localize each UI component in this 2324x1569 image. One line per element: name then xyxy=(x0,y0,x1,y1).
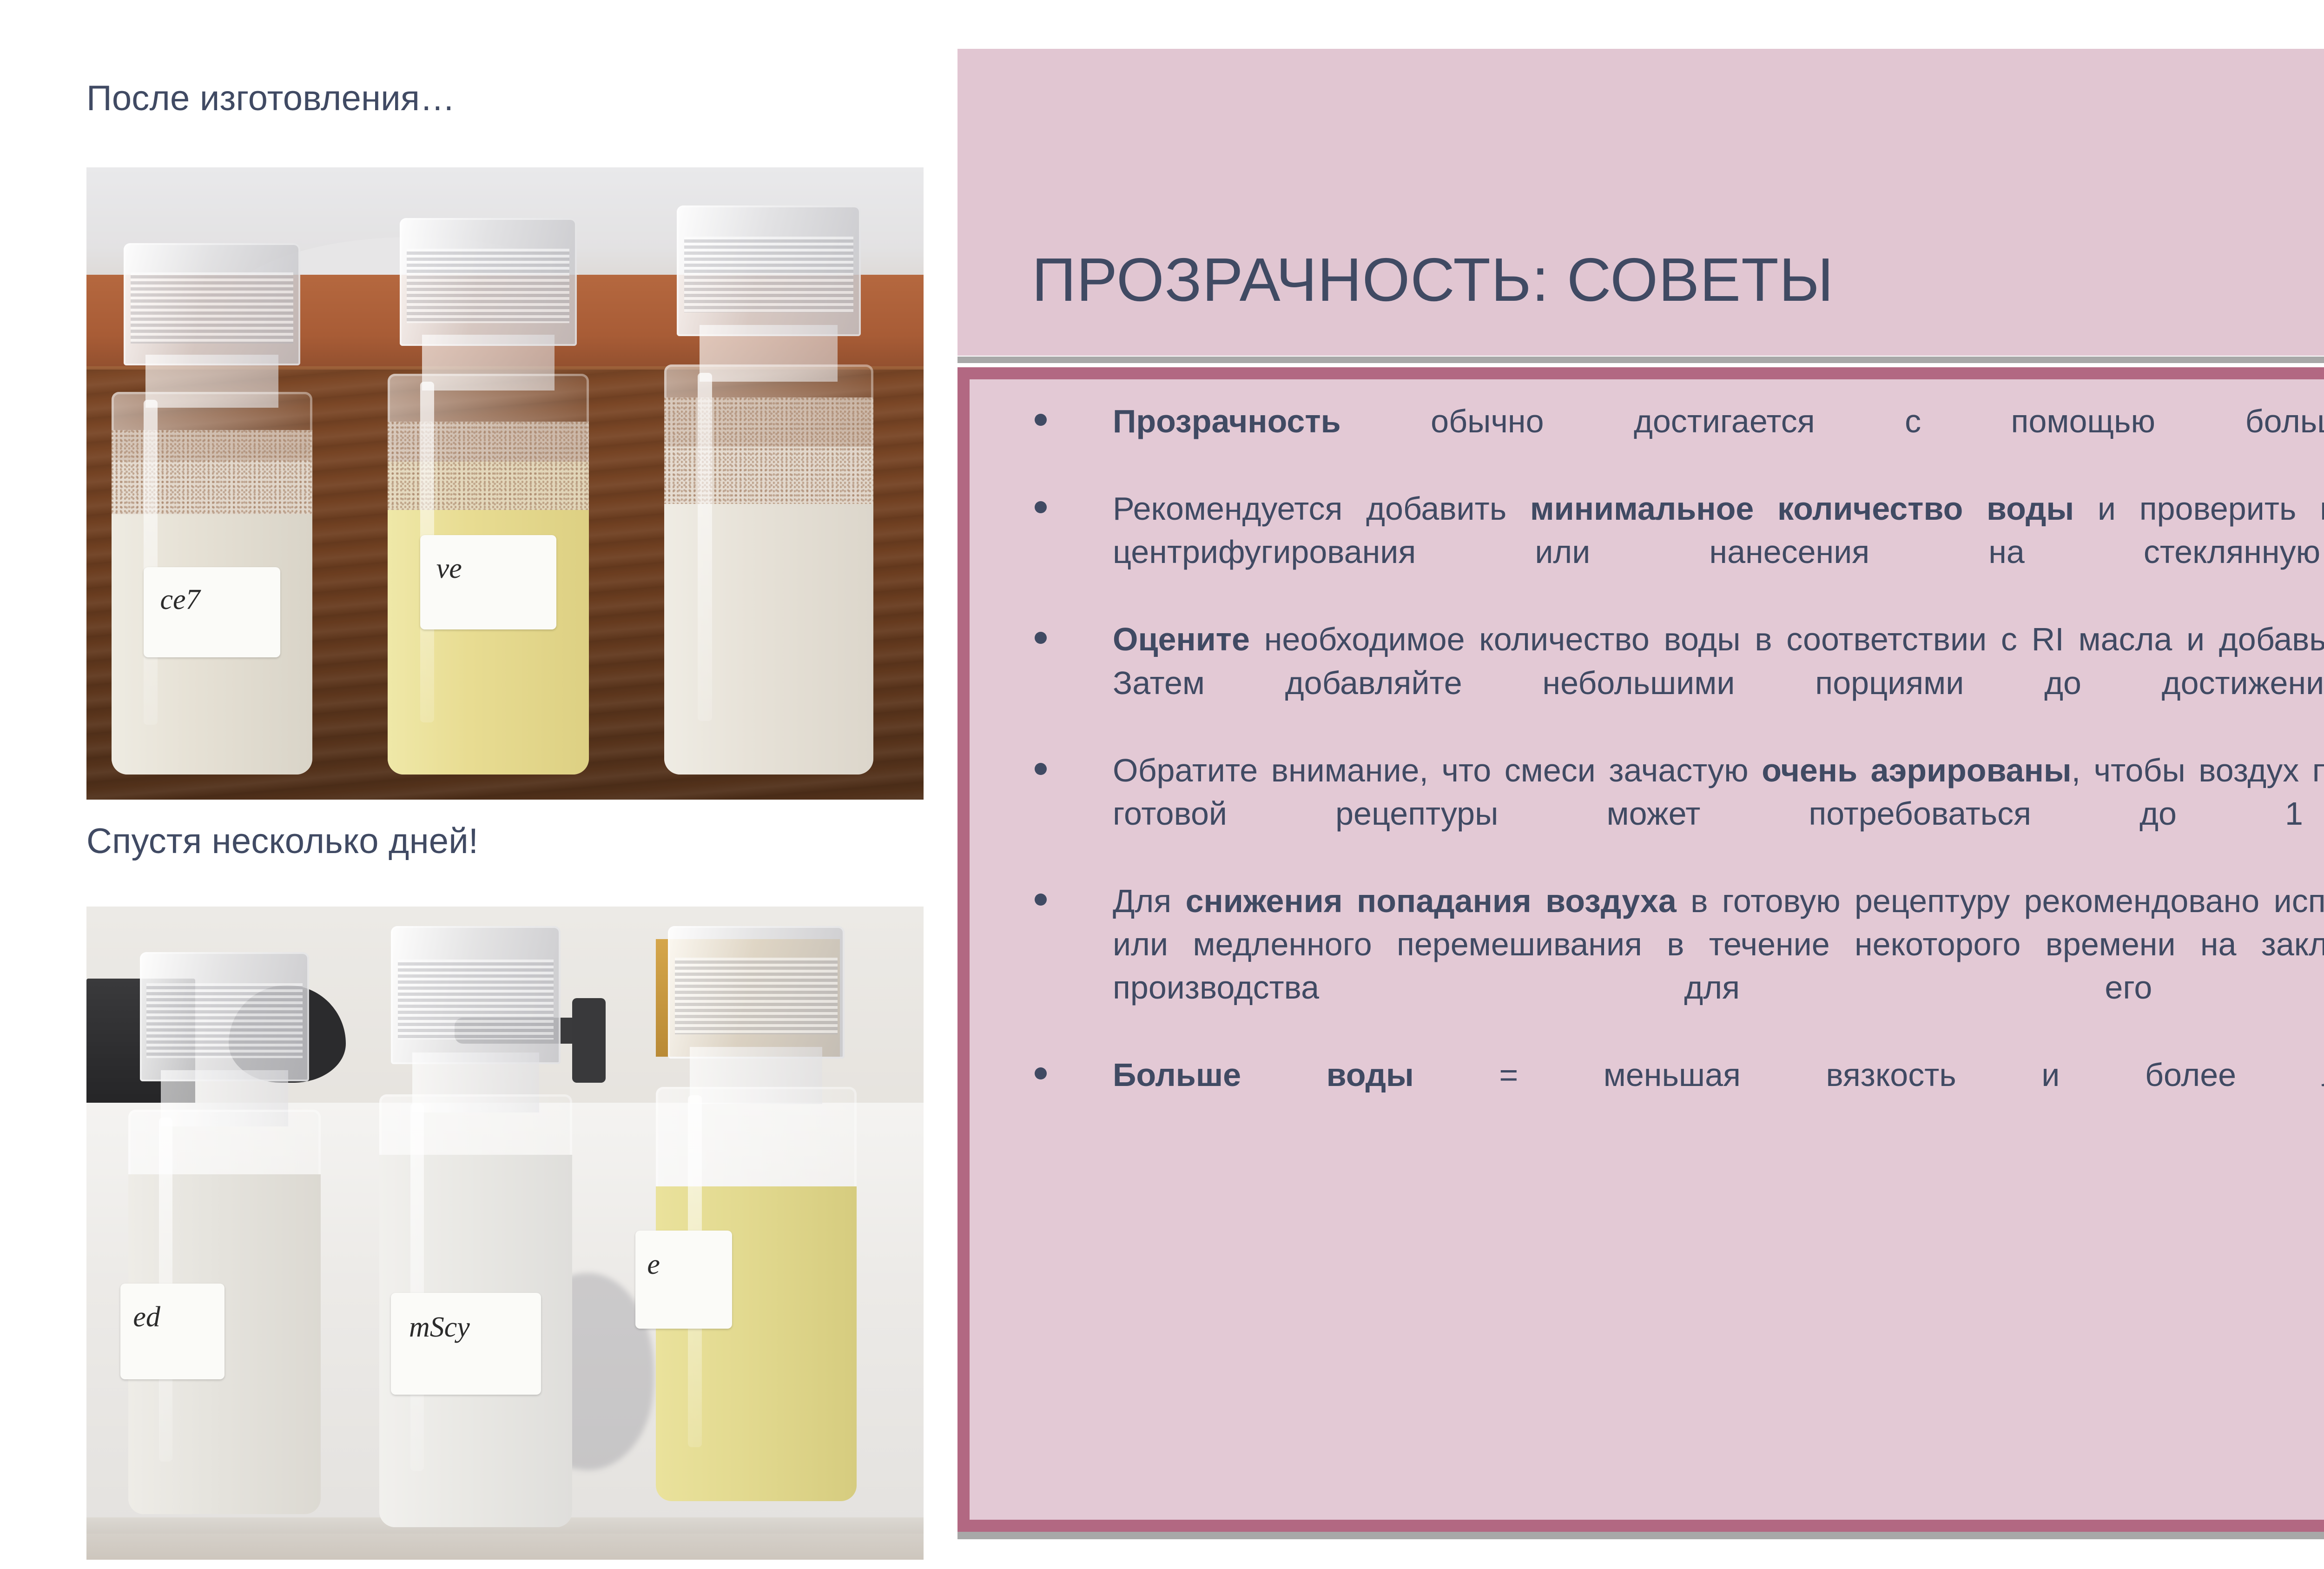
photo-bottles-after-several-days: ed тScy xyxy=(86,907,924,1560)
bullet-minimal-water: Рекомендуется добавить минимальное колич… xyxy=(1024,487,2324,617)
bottle-foam xyxy=(664,397,873,504)
bullet-emphasis: Больше воды xyxy=(1113,1057,1414,1093)
bullet-text: обычно достигается с помощью большинства… xyxy=(1341,403,2324,439)
bottle-cap-icon xyxy=(140,952,310,1081)
slide: После изготовления… ce7 xyxy=(0,0,2324,1569)
bottle-2: тScy xyxy=(379,926,572,1527)
bottle-label-text: e xyxy=(647,1248,660,1281)
bottle-highlight xyxy=(698,373,713,721)
bullet-emphasis: минимальное количество воды xyxy=(1530,490,2074,527)
bottle-3: e xyxy=(656,926,857,1501)
bottle-label-text: ed xyxy=(133,1301,160,1334)
bullet-more-water: Больше воды = меньшая вязкость и более л… xyxy=(1024,1053,2324,1140)
bullet-transparency-oils: Прозрачность обычно достигается с помощь… xyxy=(1024,400,2324,486)
bottle-label: ce7 xyxy=(144,567,280,657)
bullet-emphasis: очень аэрированы xyxy=(1762,752,2071,788)
bottle-label: ve xyxy=(420,535,557,629)
bottle-label-text: ve xyxy=(436,552,462,585)
bullet-text: Рекомендуется добавить xyxy=(1113,490,1530,527)
bottle-body xyxy=(664,364,873,774)
bottle-highlight xyxy=(144,400,158,725)
bottle-cap-icon xyxy=(124,243,300,365)
bottle-3 xyxy=(664,205,873,775)
left-column: После изготовления… ce7 xyxy=(0,0,939,1569)
tips-content-box: Прозрачность обычно достигается с помощь… xyxy=(957,367,2324,1532)
bottle-label-text: тScy xyxy=(409,1311,470,1344)
bottle-cap-icon xyxy=(677,205,861,337)
bottle-label: тScy xyxy=(391,1293,541,1395)
title-band: ПРОЗРАЧНОСТЬ: СОВЕТЫ xyxy=(957,49,2324,356)
bullet-text: необходимое количество воды в соответств… xyxy=(1113,621,2324,701)
bottle-foam xyxy=(112,430,312,514)
bullet-text: Для xyxy=(1113,883,1186,919)
photo2-foreground xyxy=(86,1534,924,1560)
right-panel: ПРОЗРАЧНОСТЬ: СОВЕТЫ Прозрачность обычно… xyxy=(957,0,2324,1569)
bullet-text: = меньшая вязкость и более легкая тексту… xyxy=(1414,1057,2324,1093)
bullet-reduce-air: Для снижения попадания воздуха в готовую… xyxy=(1024,880,2324,1053)
bullet-aerated: Обратите внимание, что смеси зачастую оч… xyxy=(1024,749,2324,879)
bottle-label-text: ce7 xyxy=(160,583,200,616)
bullet-text: Обратите внимание, что смеси зачастую xyxy=(1113,752,1762,788)
title-divider-rule xyxy=(957,357,2324,363)
content-box-shadow xyxy=(957,1532,2324,1539)
bullet-emphasis: снижения попадания воздуха xyxy=(1186,883,1677,919)
bullet-estimate-ri: Оцените необходимое количество воды в со… xyxy=(1024,618,2324,748)
bottle-label: e xyxy=(635,1231,732,1328)
bottle-1: ed xyxy=(128,952,321,1514)
page-title: ПРОЗРАЧНОСТЬ: СОВЕТЫ xyxy=(1032,245,1834,315)
photo-bottles-after-manufacturing: ce7 ve xyxy=(86,167,924,800)
bottle-1: ce7 xyxy=(112,243,312,774)
bullet-emphasis: Прозрачность xyxy=(1113,403,1341,439)
bottle-foam xyxy=(388,422,588,510)
bottle-cap-icon xyxy=(668,926,845,1058)
tips-bullet-list: Прозрачность обычно достигается с помощь… xyxy=(1024,400,2324,1141)
bottle-label: ed xyxy=(120,1284,224,1379)
photo2-cable-2 xyxy=(572,998,606,1083)
bottle-2: ve xyxy=(388,218,588,775)
caption-before-manufacturing: После изготовления… xyxy=(86,79,455,118)
bottle-cap-icon xyxy=(391,926,561,1064)
caption-after-several-days: Спустя несколько дней! xyxy=(86,822,478,861)
bottle-highlight xyxy=(410,1103,424,1471)
bottle-cap-icon xyxy=(400,218,576,346)
bullet-emphasis: Оцените xyxy=(1113,621,1250,657)
